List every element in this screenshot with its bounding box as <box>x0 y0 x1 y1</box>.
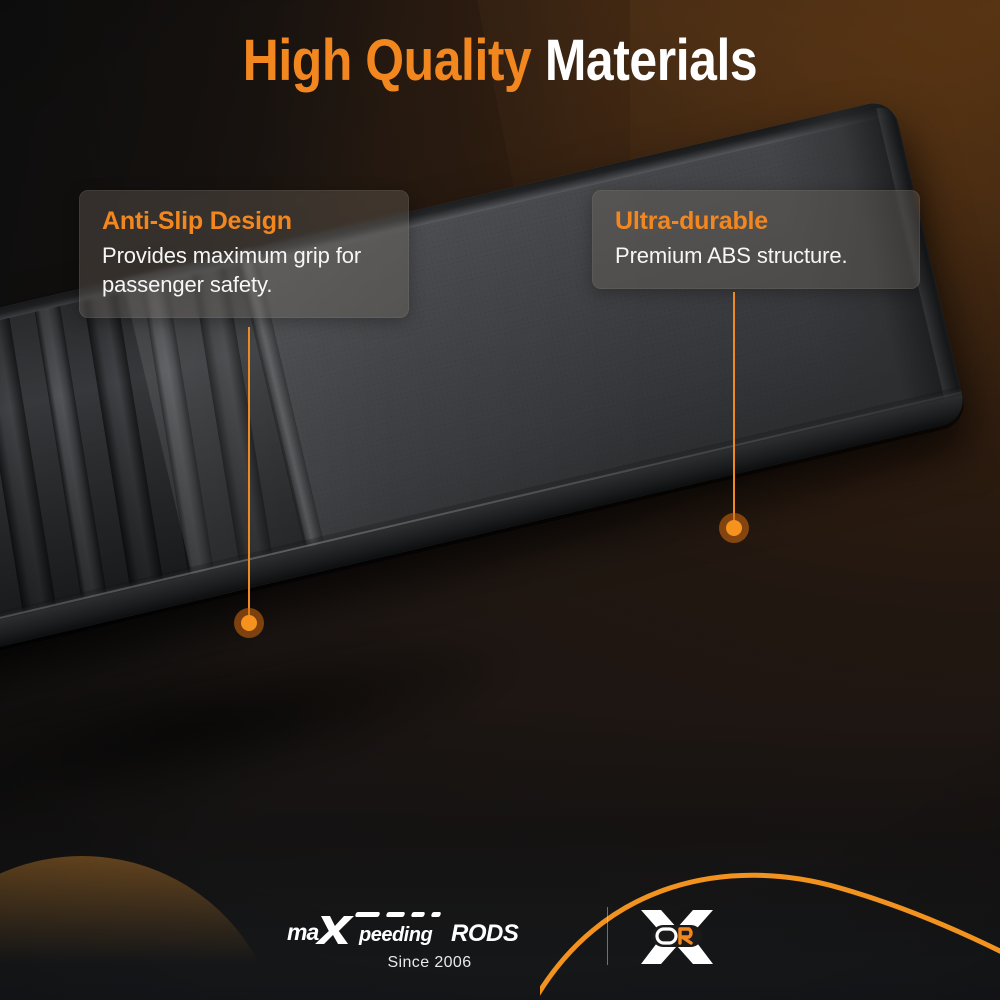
svg-text:peeding: peeding <box>358 924 432 946</box>
hotspot-dot-icon[interactable] <box>719 513 749 543</box>
callout-leader-line <box>733 292 735 527</box>
svg-text:ma: ma <box>287 919 319 945</box>
or-x-badge-logo <box>638 908 716 966</box>
svg-text:RODS: RODS <box>451 920 519 947</box>
callout-title: Ultra-durable <box>615 207 899 236</box>
callout-anti-slip[interactable]: Anti-Slip Design Provides maximum grip f… <box>79 190 409 318</box>
page-title-plain: Materials <box>545 28 757 93</box>
callout-leader-line <box>248 327 250 622</box>
footer: ma peeding RODS Since 2006 <box>0 882 1000 1000</box>
callout-body: Provides maximum grip for passenger safe… <box>102 241 388 299</box>
callout-title: Anti-Slip Design <box>102 207 388 236</box>
x-badge-icon <box>638 908 716 966</box>
page-title: High Quality Materials <box>70 32 930 90</box>
brand-tagline: Since 2006 <box>387 954 471 972</box>
callout-ultra-durable[interactable]: Ultra-durable Premium ABS structure. <box>592 190 920 289</box>
product-feature-graphic: High Quality Materials Anti-Slip Design … <box>0 0 1000 1000</box>
hotspot-dot-icon[interactable] <box>234 608 264 638</box>
maxpeedingrods-logo: ma peeding RODS <box>285 910 575 950</box>
brand-lockup: ma peeding RODS Since 2006 <box>285 910 575 972</box>
callout-body: Premium ABS structure. <box>615 241 899 270</box>
footer-divider <box>607 907 608 965</box>
page-title-highlight: High Quality <box>243 28 532 93</box>
brand-wordmark-icon: ma peeding RODS <box>285 910 575 950</box>
